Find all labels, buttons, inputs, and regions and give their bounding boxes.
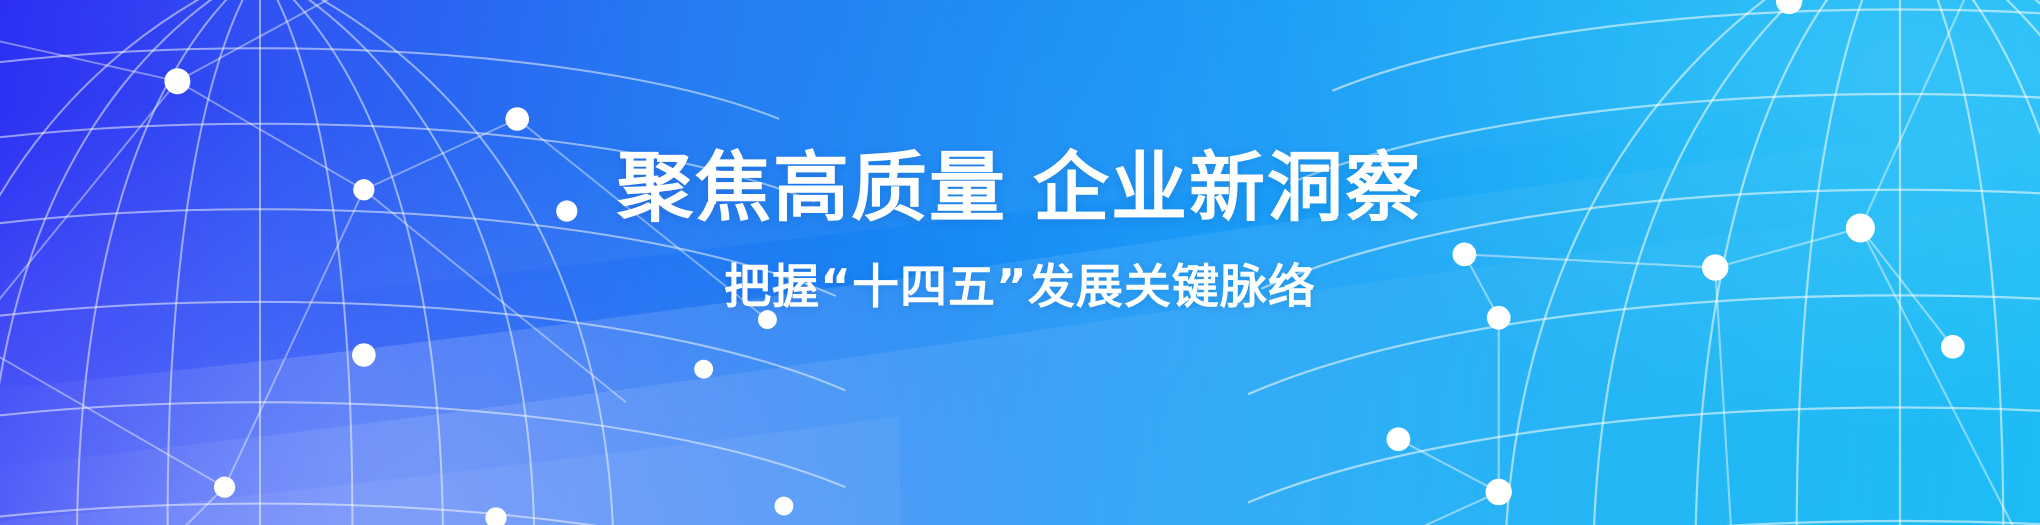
banner-text-block: 聚焦高质量企业新洞察 把握“十四五”发展关键脉络 [0,150,2040,311]
banner-title-part-2: 企业新洞察 [1033,143,1423,232]
banner-subtitle: 把握“十四五”发展关键脉络 [0,264,2040,311]
banner-title-part-1: 聚焦高质量 [617,143,1007,232]
banner-title: 聚焦高质量企业新洞察 [0,150,2040,226]
promo-banner: 聚焦高质量企业新洞察 把握“十四五”发展关键脉络 [0,0,2040,525]
